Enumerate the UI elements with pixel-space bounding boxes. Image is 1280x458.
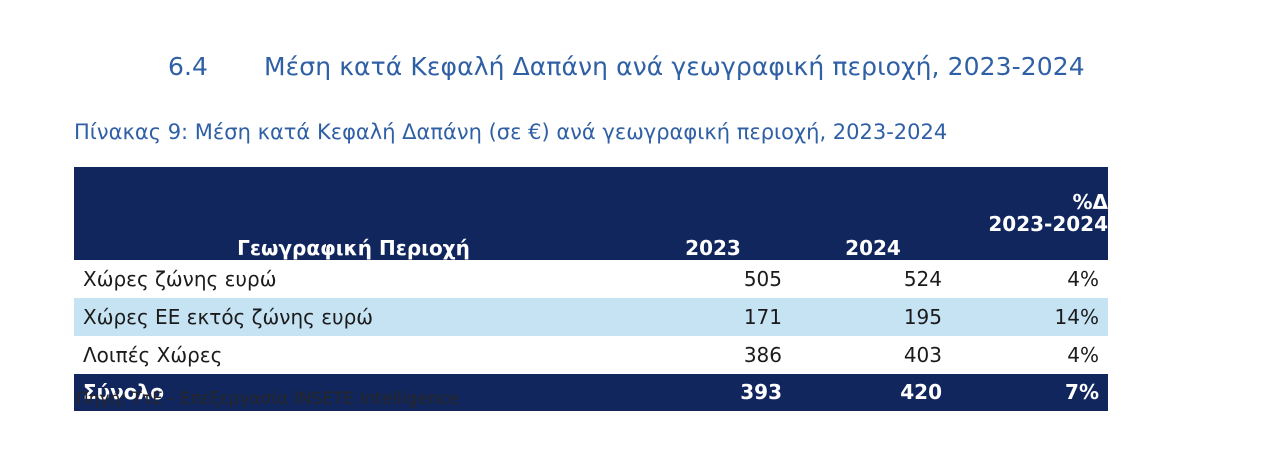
column-header-percent-change-period: 2023-2024 [954, 213, 1108, 235]
table-head: Γεωγραφική Περιοχή 2023 2024 %Δ 2023-202… [74, 167, 1108, 260]
column-header-region-label: Γεωγραφική Περιοχή [228, 236, 480, 271]
table-caption: Πίνακας 9: Μέση κατά Κεφαλή Δαπάνη (σε €… [74, 120, 947, 144]
cell-2024: 195 [794, 298, 954, 336]
column-header-2023-label: 2023 [675, 236, 753, 271]
column-header-2024-label: 2024 [835, 236, 913, 271]
per-capita-expenditure-table: Γεωγραφική Περιοχή 2023 2024 %Δ 2023-202… [74, 167, 1108, 411]
section-number: 6.4 [168, 52, 264, 81]
table-container: Γεωγραφική Περιοχή 2023 2024 %Δ 2023-202… [74, 167, 1108, 411]
column-header-2023: 2023 [634, 167, 794, 260]
cell-total-2024: 420 [794, 374, 954, 411]
section-heading: 6.4 Μέση κατά Κεφαλή Δαπάνη ανά γεωγραφι… [168, 52, 1188, 81]
column-header-2024: 2024 [794, 167, 954, 260]
cell-percent-change: 4% [954, 336, 1108, 374]
cell-region: Λοιπές Χώρες [74, 336, 634, 374]
source-note: Πηγή: ΤτΕ - Επεξεργασία INSETE Intellige… [76, 389, 459, 409]
cell-percent-change: 4% [954, 260, 1108, 298]
table-row: Χώρες ΕΕ εκτός ζώνης ευρώ 171 195 14% [74, 298, 1108, 336]
cell-percent-change: 14% [954, 298, 1108, 336]
cell-2023: 171 [634, 298, 794, 336]
table-header-row: Γεωγραφική Περιοχή 2023 2024 %Δ 2023-202… [74, 167, 1108, 260]
column-header-percent-change-symbol: %Δ [954, 191, 1108, 213]
cell-region: Χώρες ΕΕ εκτός ζώνης ευρώ [74, 298, 634, 336]
cell-2024: 403 [794, 336, 954, 374]
table-row: Λοιπές Χώρες 386 403 4% [74, 336, 1108, 374]
column-header-percent-change: %Δ 2023-2024 [954, 167, 1108, 260]
cell-2023: 386 [634, 336, 794, 374]
cell-total-percent-change: 7% [954, 374, 1108, 411]
cell-total-2023: 393 [634, 374, 794, 411]
column-header-region: Γεωγραφική Περιοχή [74, 167, 634, 260]
section-title: Μέση κατά Κεφαλή Δαπάνη ανά γεωγραφική π… [264, 52, 1188, 81]
